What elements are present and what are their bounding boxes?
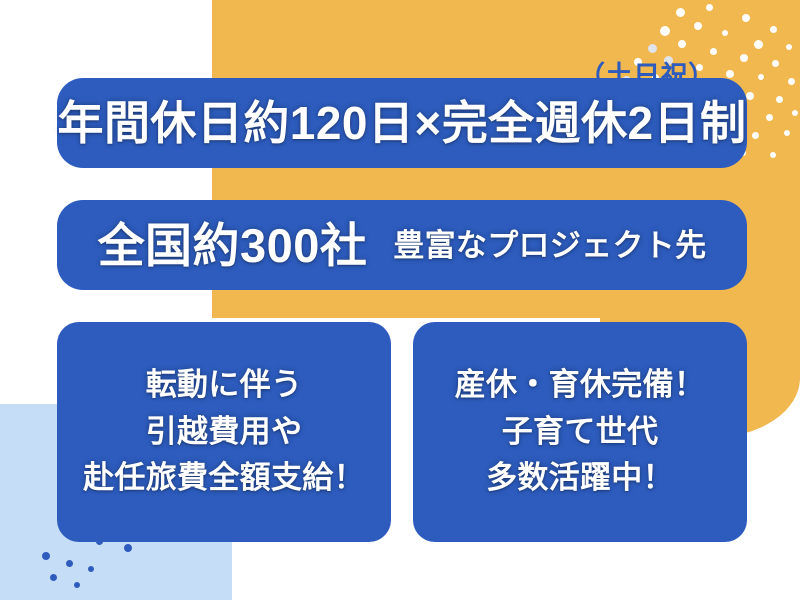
decorative-dot: [694, 22, 702, 30]
card-nationwide-companies-headline: 全国約300社: [98, 222, 368, 269]
decorative-dot: [726, 70, 734, 78]
card-nationwide-companies-subline: 豊富なプロジェクト先: [393, 230, 706, 261]
decorative-dot: [758, 74, 764, 80]
card-relocation-expenses-line-3: 赴任旅費全額支給！: [83, 458, 365, 499]
decorative-dot: [770, 152, 776, 158]
decorative-dot: [678, 40, 686, 48]
decorative-dot: [772, 60, 779, 67]
decorative-dot: [766, 114, 773, 121]
decorative-dot: [742, 14, 750, 22]
promo-graphic: （土日祝） 年間休日約120日×完全週休2日制 全国約300社 豊富なプロジェク…: [0, 0, 800, 600]
card-childcare-leave-line-3: 多数活躍中！: [486, 458, 674, 499]
decorative-dot: [784, 130, 790, 136]
decorative-dot: [746, 92, 754, 100]
decorative-dot: [788, 78, 795, 85]
decorative-dot: [776, 96, 783, 103]
card-annual-holidays-line-1: 年間休日約120日×完全週休2日制: [57, 100, 746, 146]
decorative-dot: [792, 110, 798, 116]
decorative-dot: [50, 574, 57, 581]
decorative-dot: [66, 560, 73, 567]
decorative-dot: [740, 54, 748, 62]
decorative-dot: [786, 44, 792, 50]
decorative-dot: [88, 566, 94, 572]
decorative-dot: [676, 8, 685, 17]
decorative-dot: [42, 552, 50, 560]
card-relocation-expenses: 転動に伴う 引越費用や 赴任旅費全額支給！: [57, 322, 391, 542]
decorative-dot: [754, 40, 763, 49]
decorative-dot: [722, 30, 728, 36]
decorative-dot: [648, 44, 657, 53]
card-childcare-leave-line-2: 子育て世代: [502, 412, 659, 453]
decorative-dot: [706, 4, 713, 11]
decorative-dot: [124, 544, 132, 552]
decorative-dot: [752, 132, 759, 139]
card-childcare-leave-line-1: 産休・育休完備！: [455, 365, 705, 406]
card-relocation-expenses-line-1: 転動に伴う: [146, 365, 303, 406]
decorative-dot: [770, 26, 777, 33]
decorative-dot: [660, 26, 670, 36]
decorative-dot: [74, 582, 80, 588]
card-childcare-leave: 産休・育休完備！ 子育て世代 多数活躍中！: [413, 322, 747, 542]
card-relocation-expenses-line-2: 引越費用や: [146, 412, 303, 453]
card-nationwide-companies: 全国約300社 豊富なプロジェクト先: [57, 200, 747, 290]
card-annual-holidays: 年間休日約120日×完全週休2日制: [57, 78, 747, 168]
